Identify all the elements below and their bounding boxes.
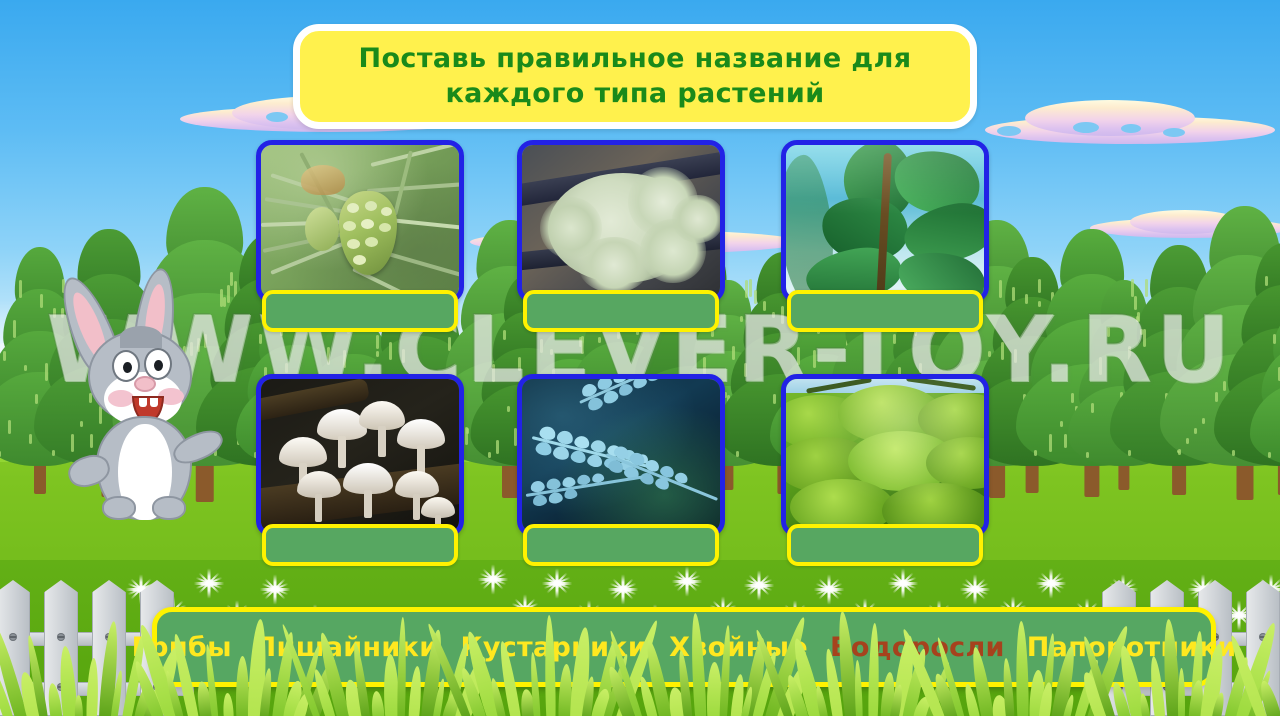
- card-photo-conifer: [256, 140, 464, 303]
- card-photo-lichen: [517, 140, 725, 303]
- card-photo-moss: [781, 374, 989, 537]
- answer-slot-lichen[interactable]: [523, 290, 719, 332]
- game-stage: WWW.CLEVER-TOY.RU Поста: [0, 0, 1280, 716]
- card-mushroom[interactable]: [256, 374, 464, 537]
- card-photo-fern: [517, 374, 725, 537]
- card-photo-mushroom: [256, 374, 464, 537]
- card-fern[interactable]: [517, 374, 725, 537]
- title-line-2: каждого типа растений: [445, 78, 824, 109]
- answer-slot-algae[interactable]: [787, 290, 983, 332]
- word-option[interactable]: Папоротники: [1027, 632, 1237, 663]
- answer-slot-conifer[interactable]: [262, 290, 458, 332]
- rabbit-mascot: [66, 268, 238, 520]
- answer-slot-moss[interactable]: [787, 524, 983, 566]
- answer-slot-mushroom[interactable]: [262, 524, 458, 566]
- card-moss[interactable]: [781, 374, 989, 537]
- card-algae[interactable]: [781, 140, 989, 303]
- card-photo-algae: [781, 140, 989, 303]
- page-title: Поставь правильное название для каждого …: [344, 42, 925, 111]
- card-lichen[interactable]: [517, 140, 725, 303]
- answer-slot-fern[interactable]: [523, 524, 719, 566]
- conifer-tree: [1250, 281, 1280, 491]
- card-conifer[interactable]: [256, 140, 464, 303]
- title-line-1: Поставь правильное название для: [358, 43, 911, 74]
- title-banner: Поставь правильное название для каждого …: [293, 24, 977, 129]
